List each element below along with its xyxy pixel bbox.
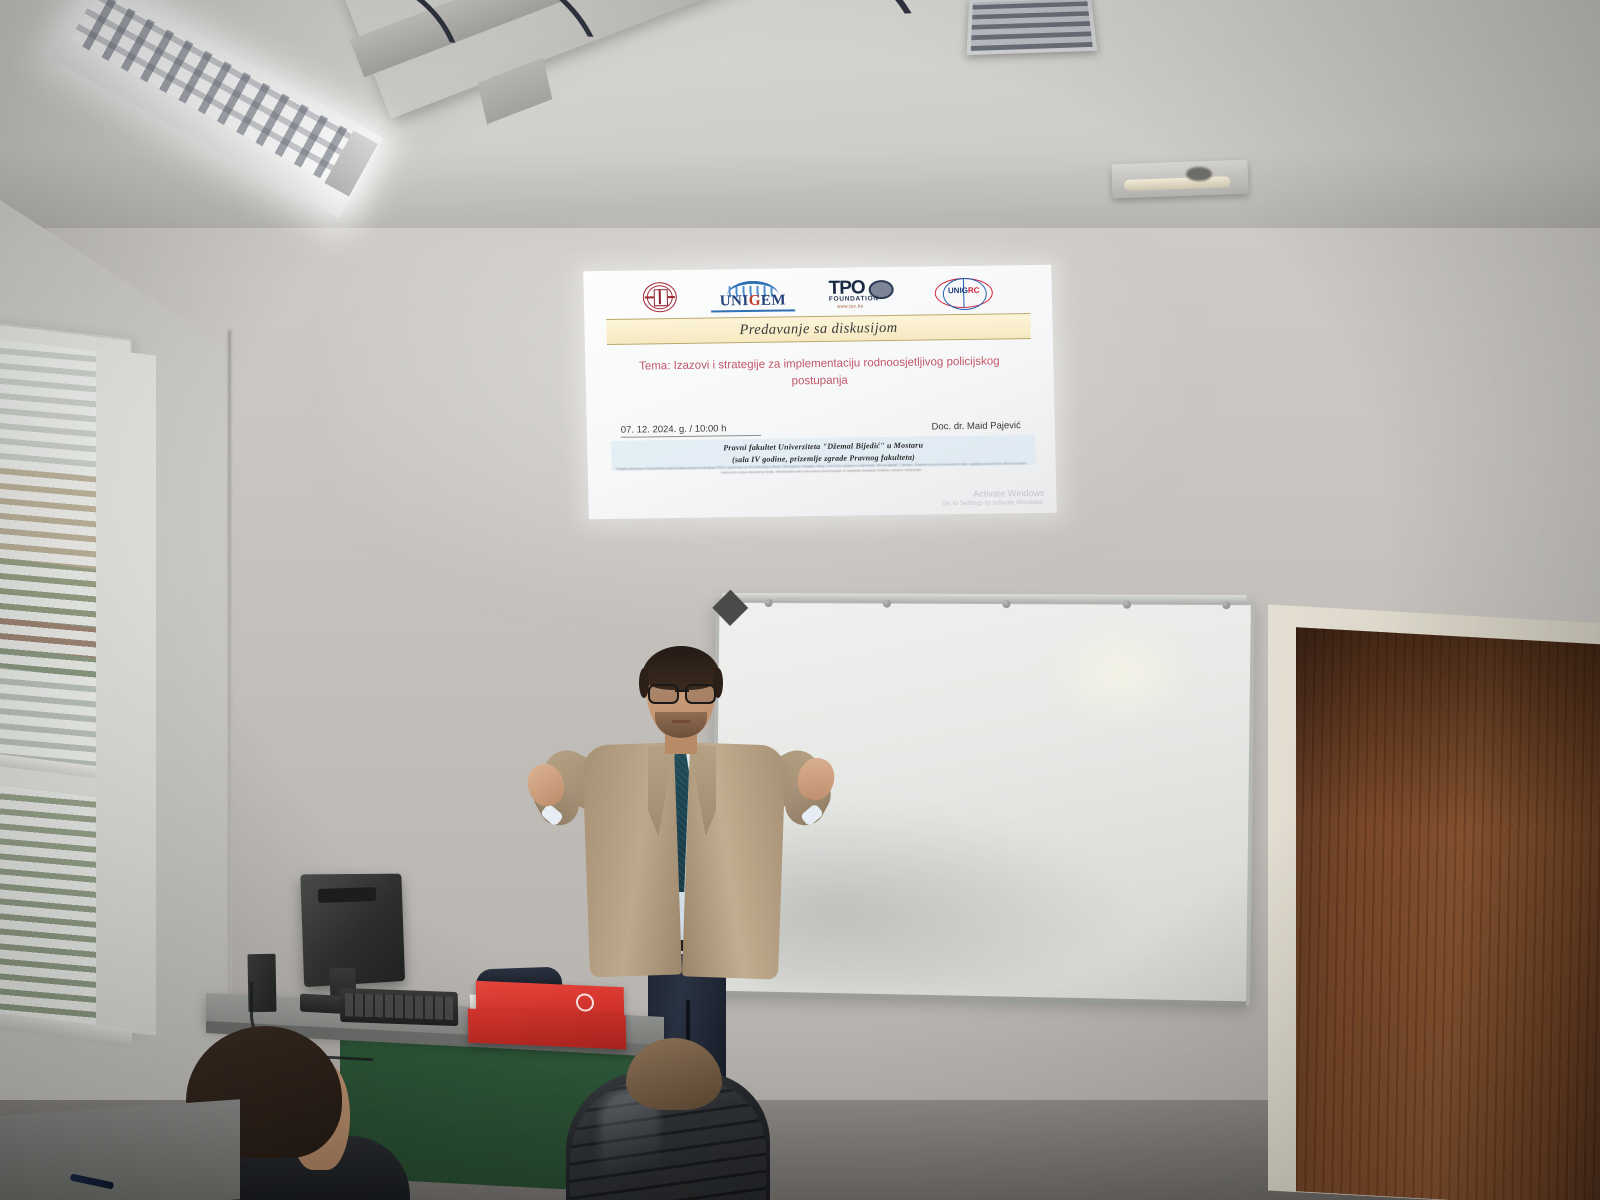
- slide-speaker: Doc. dr. Maid Pajević: [931, 420, 1021, 433]
- slide-meta-row: 07. 12. 2024. g. / 10:00 h Doc. dr. Maid…: [621, 419, 1021, 438]
- whiteboard-screw: [883, 600, 891, 608]
- presenter-beard: [655, 712, 707, 738]
- tpo-foundation-logo: TPO FOUNDATION www.tpo.ba: [828, 278, 905, 311]
- wall-corner-seam: [228, 330, 231, 1090]
- glasses-icon: [648, 684, 716, 701]
- whiteboard-top-rail: [722, 593, 1247, 604]
- slide-logo-row: UNIGEM TPO FOUNDATION www.tpo.ba UNIGRC: [583, 273, 1052, 318]
- unigem-logo: UNIGEM: [706, 279, 799, 312]
- tpo-url: www.tpo.ba: [837, 303, 863, 308]
- slide-banner-text: Predavanje sa diskusijom: [739, 319, 897, 338]
- tpo-foundation-label: FOUNDATION: [829, 295, 879, 303]
- front-row-desk: [0, 1099, 240, 1200]
- whiteboard-glare: [1045, 618, 1198, 730]
- whiteboard-screw: [765, 599, 773, 607]
- whiteboard-screw: [1222, 601, 1230, 609]
- door-shading: [1296, 627, 1600, 836]
- slide-banner: Predavanje sa diskusijom: [606, 313, 1031, 345]
- window-blinds[interactable]: [0, 337, 108, 772]
- ceiling-air-vent: [966, 0, 1097, 55]
- wall-light-sensor: [1186, 167, 1212, 181]
- projected-slide: UNIGEM TPO FOUNDATION www.tpo.ba UNIGRC …: [583, 265, 1057, 519]
- window-pane-upper: [0, 337, 108, 772]
- watermark-line2: Go to Settings to activate Windows.: [942, 499, 1045, 509]
- university-seal-logo: [642, 282, 677, 312]
- whiteboard-screw: [1123, 601, 1131, 609]
- ceiling-cable: [636, 0, 936, 110]
- window-reveal: [96, 348, 156, 1035]
- classroom-photo: UNIGEM TPO FOUNDATION www.tpo.ba UNIGRC …: [0, 0, 1600, 1200]
- slide-date: 07. 12. 2024. g. / 10:00 h: [621, 423, 761, 438]
- unigirc-logo: UNIGRC: [934, 278, 993, 309]
- classroom-door[interactable]: [1296, 627, 1600, 1200]
- slide-topic: Tema: Izazovi i strategije za implementa…: [611, 353, 1028, 392]
- red-ring-binder-bottom[interactable]: [468, 1009, 627, 1050]
- window-blinds[interactable]: [0, 783, 100, 1037]
- monitor-vent: [318, 887, 376, 903]
- window-pane-lower: [0, 783, 100, 1037]
- windows-activation-watermark: Activate Windows Go to Settings to activ…: [942, 487, 1045, 508]
- presenter-mouth: [672, 720, 690, 723]
- wall-mounted-light: [1111, 160, 1248, 199]
- whiteboard-screw: [1002, 600, 1010, 608]
